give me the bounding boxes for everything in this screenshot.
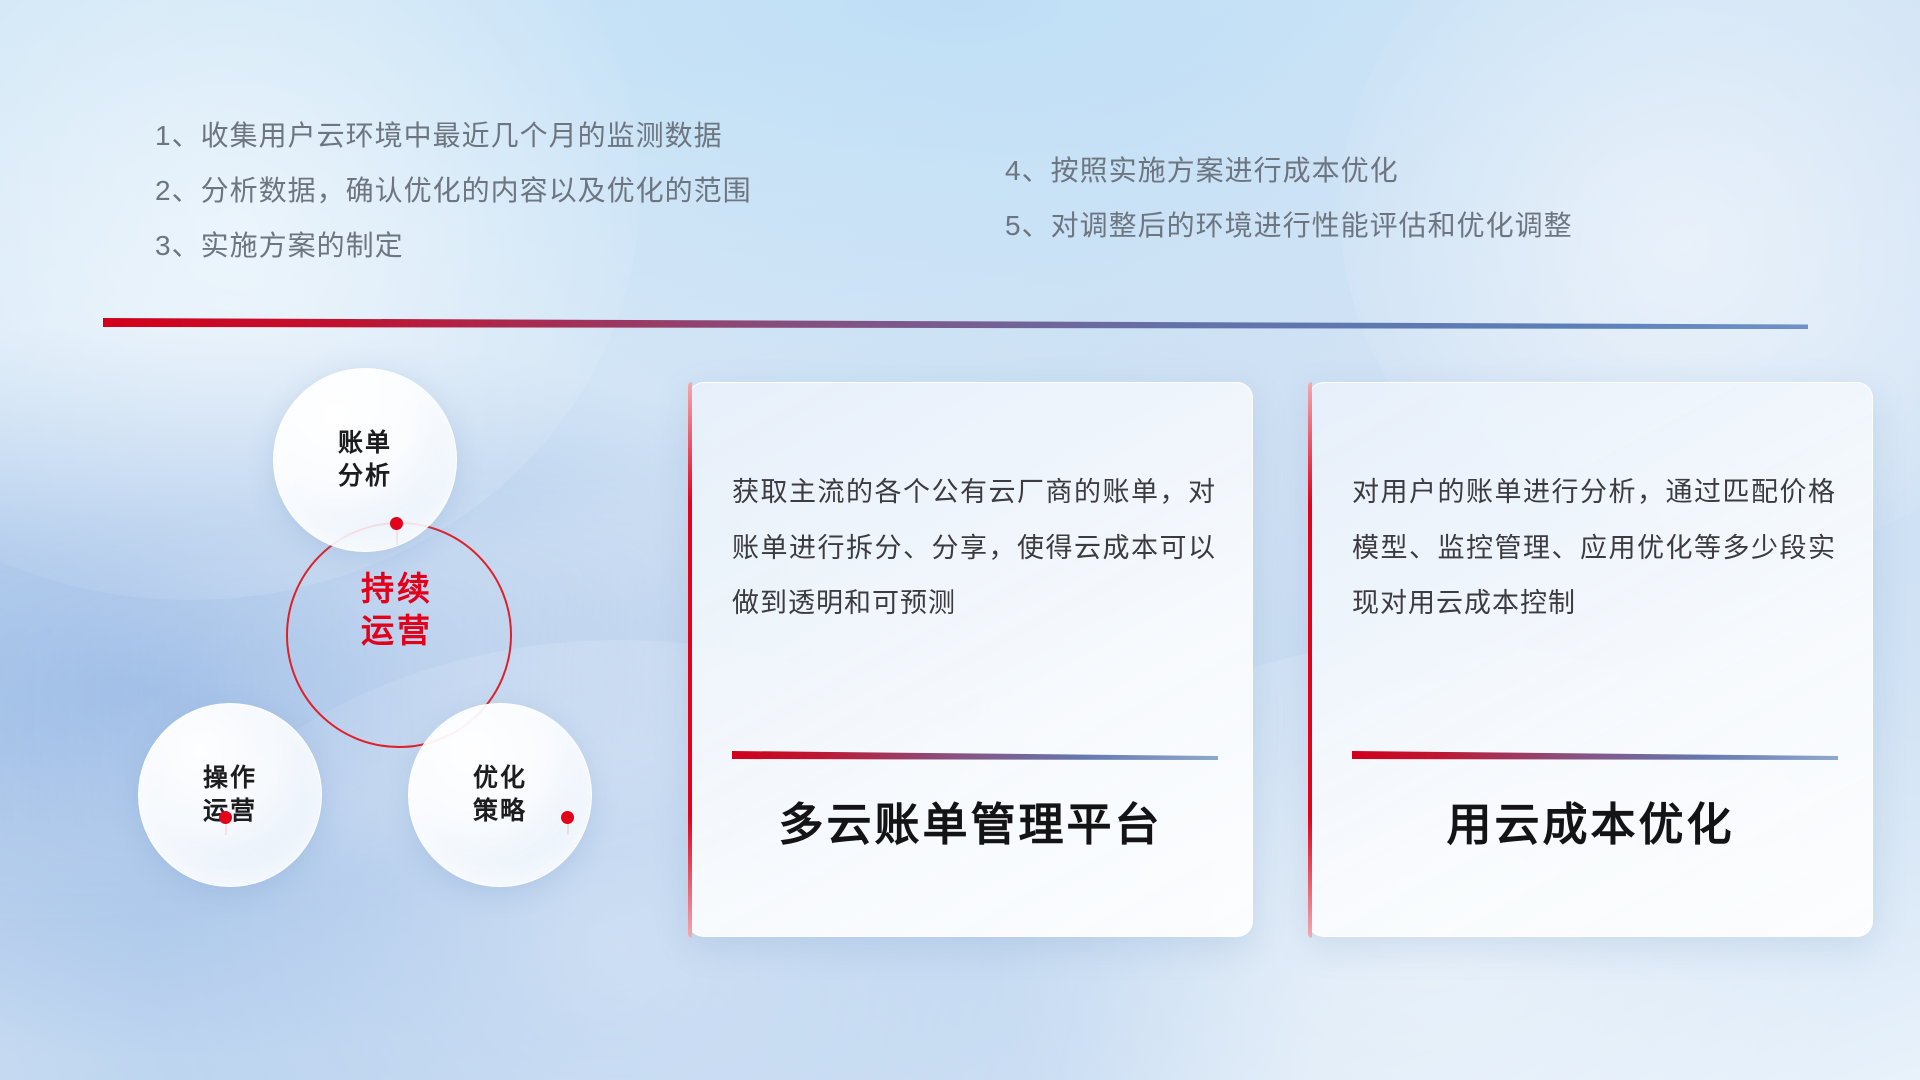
diagram-node-operations-line-2: 运营: [203, 795, 257, 828]
diagram-center-label: 持续 运营: [286, 568, 508, 652]
card-cloud-cost-optimization-body: 对用户的账单进行分析，通过匹配价格模型、监控管理、应用优化等多少段实现对用云成本…: [1352, 465, 1836, 632]
diagram-node-operations-line-1: 操作: [203, 762, 257, 795]
card-cloud-cost-optimization[interactable]: 对用户的账单进行分析，通过匹配价格模型、监控管理、应用优化等多少段实现对用云成本…: [1308, 382, 1873, 937]
header-divider: [103, 318, 1808, 329]
diagram-node-optimization-strategy[interactable]: 优化 策略: [408, 703, 592, 887]
card-cloud-cost-optimization-title: 用云成本优化: [1309, 788, 1872, 853]
diagram-dot-left: [219, 811, 232, 824]
step-item-4: 4、按照实施方案进行成本优化: [1005, 157, 1573, 185]
card-multicloud-billing[interactable]: 获取主流的各个公有云厂商的账单，对账单进行拆分、分享，使得云成本可以做到透明和可…: [688, 382, 1253, 937]
step-list-left: 1、收集用户云环境中最近几个月的监测数据 2、分析数据，确认优化的内容以及优化的…: [155, 122, 752, 287]
diagram-node-optimization-strategy-line-1: 优化: [473, 762, 527, 795]
card-multicloud-billing-title: 多云账单管理平台: [689, 788, 1252, 853]
diagram-node-operations[interactable]: 操作 运营: [138, 703, 322, 887]
card-multicloud-billing-divider: [732, 751, 1218, 760]
step-item-5: 5、对调整后的环境进行性能评估和优化调整: [1005, 212, 1573, 240]
diagram-center-line-2: 运营: [286, 610, 508, 652]
diagram-node-optimization-strategy-line-2: 策略: [473, 795, 527, 828]
step-list-right: 4、按照实施方案进行成本优化 5、对调整后的环境进行性能评估和优化调整: [1005, 157, 1573, 267]
diagram-center-line-1: 持续: [286, 568, 508, 610]
step-item-1: 1、收集用户云环境中最近几个月的监测数据: [155, 122, 752, 150]
diagram-node-bill-analysis[interactable]: 账单 分析: [273, 368, 457, 552]
cycle-diagram: 持续 运营 账单 分析 操作 运营 优化 策略: [100, 355, 660, 955]
step-item-3: 3、实施方案的制定: [155, 232, 752, 260]
diagram-dot-top: [390, 517, 403, 530]
card-multicloud-billing-body: 获取主流的各个公有云厂商的账单，对账单进行拆分、分享，使得云成本可以做到透明和可…: [732, 465, 1216, 632]
step-item-2: 2、分析数据，确认优化的内容以及优化的范围: [155, 177, 752, 205]
slide-canvas: 1、收集用户云环境中最近几个月的监测数据 2、分析数据，确认优化的内容以及优化的…: [0, 0, 1920, 1080]
diagram-dot-right: [561, 811, 574, 824]
diagram-node-bill-analysis-line-2: 分析: [338, 460, 392, 493]
diagram-node-bill-analysis-line-1: 账单: [338, 427, 392, 460]
card-cloud-cost-optimization-divider: [1352, 751, 1838, 760]
